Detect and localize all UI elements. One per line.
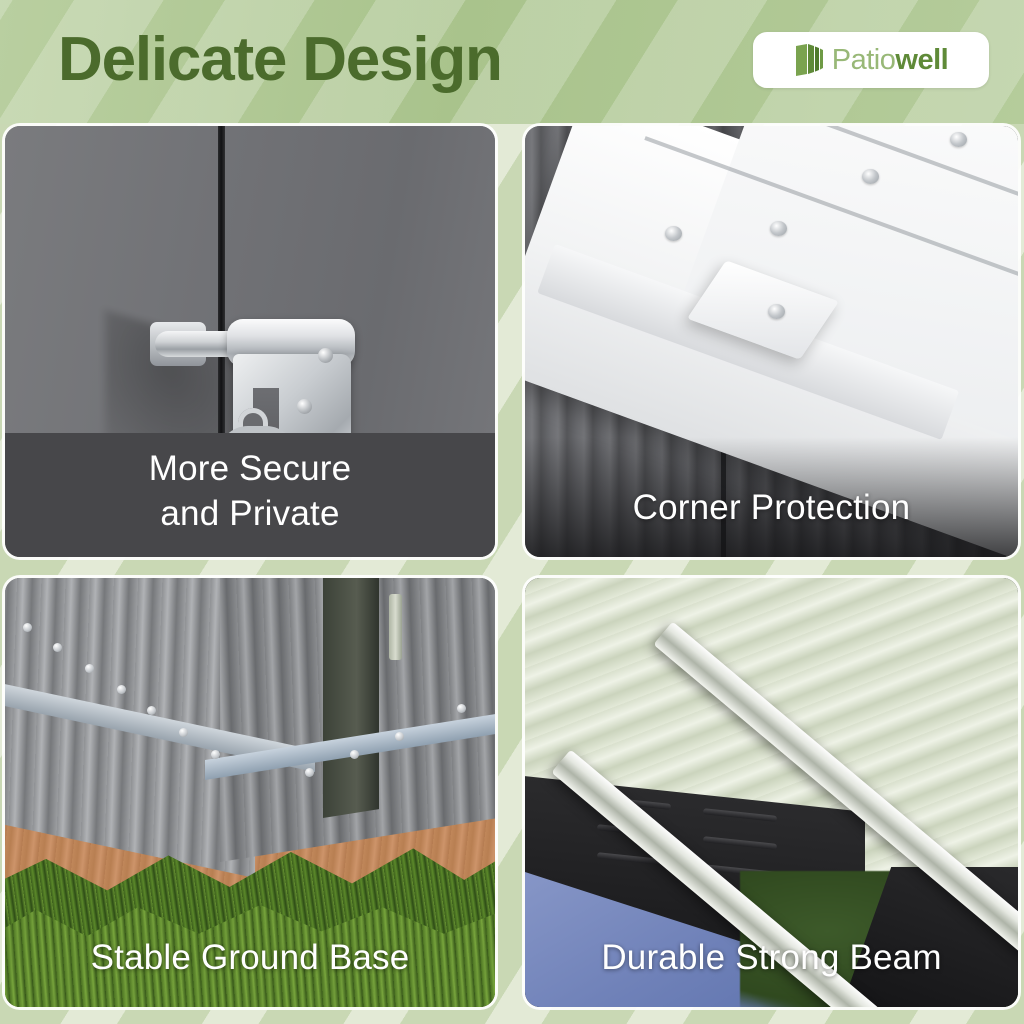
- rivet-icon: [179, 728, 188, 737]
- roof-screw-icon: [770, 221, 787, 236]
- brand-logo: Patiowell: [753, 32, 989, 88]
- panel-corner-protection[interactable]: Corner Protection: [525, 126, 1018, 557]
- brand-logo-text: Patiowell: [832, 44, 948, 77]
- rivet-icon: [85, 664, 94, 673]
- rivet-icon: [457, 704, 466, 713]
- page-title: Delicate Design: [58, 26, 502, 94]
- roof-screw-icon: [950, 132, 967, 147]
- panel-durable-strong-beam[interactable]: Durable Strong Beam: [525, 578, 1018, 1007]
- hasp-screw-icon: [297, 399, 312, 414]
- corner-cap-screw-icon: [768, 304, 785, 319]
- panel-more-secure-and-private[interactable]: More Secure and Private: [5, 126, 495, 557]
- panel-caption-line-2: and Private: [5, 492, 495, 537]
- panel-caption-line-1: Durable Strong Beam: [525, 936, 1018, 981]
- panel-caption-line-1: Stable Ground Base: [5, 936, 495, 981]
- panel-stable-ground-base[interactable]: Stable Ground Base: [5, 578, 495, 1007]
- patiowell-panel-icon: [794, 43, 824, 77]
- rivet-icon: [350, 750, 359, 759]
- infographic-page: Delicate Design Patiowell More S: [0, 0, 1024, 1024]
- rivet-icon: [211, 750, 220, 759]
- panel-caption-line-1: More Secure: [5, 447, 495, 492]
- shed-door-gap: [323, 578, 379, 818]
- panel-caption: Stable Ground Base: [5, 936, 495, 1007]
- panel-caption: Corner Protection: [525, 486, 1018, 557]
- panel-caption: Durable Strong Beam: [525, 936, 1018, 1007]
- rivet-icon: [23, 623, 32, 632]
- panel-caption: More Secure and Private: [5, 433, 495, 557]
- hasp-screw-icon: [318, 348, 333, 363]
- rivet-icon: [53, 643, 62, 652]
- roof-screw-icon: [862, 169, 879, 184]
- brand-name-bold: well: [895, 44, 948, 76]
- door-hinge: [389, 594, 402, 660]
- rivet-icon: [117, 685, 126, 694]
- brand-name-light: Patio: [832, 44, 896, 76]
- rivet-icon: [147, 706, 156, 715]
- rivet-icon: [305, 768, 314, 777]
- panel-caption-line-1: Corner Protection: [525, 486, 1018, 531]
- roof-screw-icon: [665, 226, 682, 241]
- rivet-icon: [395, 732, 404, 741]
